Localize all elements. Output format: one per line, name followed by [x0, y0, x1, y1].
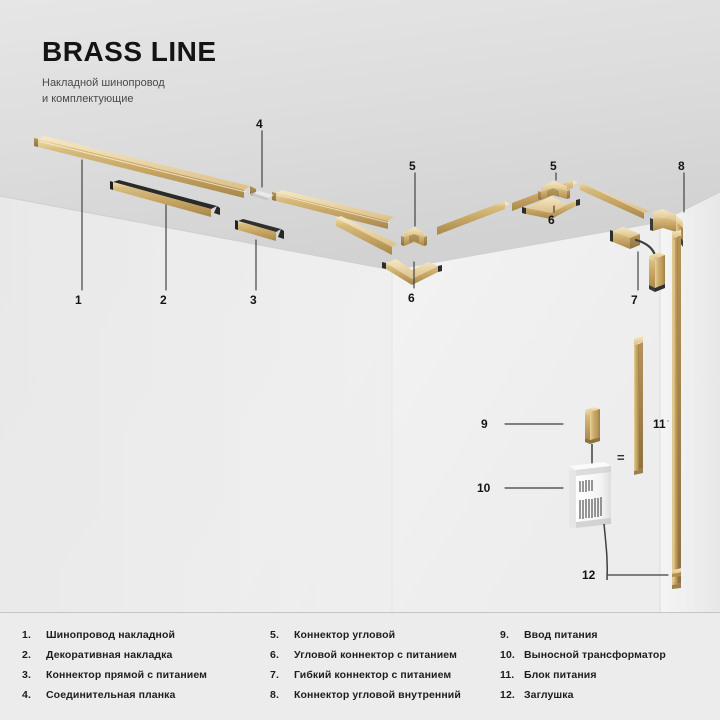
legend-label: Гибкий коннектор с питанием: [294, 669, 486, 681]
legend-label: Блок питания: [524, 669, 720, 681]
legend-label: Коннектор угловой: [294, 629, 486, 641]
right-wall: [660, 192, 720, 612]
legend-number: 2.: [22, 649, 46, 661]
legend-item-12: 12. Заглушка: [500, 689, 720, 701]
legend-number: 6.: [270, 649, 294, 661]
legend-label: Ввод питания: [524, 629, 720, 641]
power-supply-rail: [672, 230, 681, 589]
legend-item-5: 5. Коннектор угловой: [270, 629, 486, 641]
callout-9: 9: [481, 418, 488, 430]
legend-label: Выносной трансформатор: [524, 649, 720, 661]
callout-11: 11: [653, 418, 666, 430]
legend-item-1: 1. Шинопровод накладной: [22, 629, 256, 641]
legend-item-4: 4. Соединительная планка: [22, 689, 256, 701]
legend-label: Декоративная накладка: [46, 649, 256, 661]
callout-1: 1: [75, 294, 82, 306]
legend-label: Шинопровод накладной: [46, 629, 256, 641]
legend-item-8: 8. Коннектор угловой внутренний: [270, 689, 486, 701]
rail-stub-upper-right: [634, 336, 643, 475]
callout-4: 4: [256, 118, 263, 130]
legend-item-11: 11. Блок питания: [500, 669, 720, 681]
callout-8: 8: [678, 160, 685, 172]
legend-number: 10.: [500, 649, 524, 661]
legend-number: 4.: [22, 689, 46, 701]
callout-12: 12: [582, 569, 595, 581]
equals-sign: =: [617, 450, 625, 465]
legend-item-2: 2. Декоративная накладка: [22, 649, 256, 661]
legend-grid: 1. Шинопровод накладной 2. Декоративная …: [0, 613, 720, 701]
subtitle-line-1: Накладной шинопровод: [42, 76, 217, 92]
page-title: BRASS LINE: [42, 38, 217, 66]
header-block: BRASS LINE Накладной шинопровод и компле…: [42, 38, 217, 108]
callout-10: 10: [477, 482, 490, 494]
legend-label: Коннектор прямой с питанием: [46, 669, 256, 681]
legend-column-1: 1. Шинопровод накладной 2. Декоративная …: [0, 629, 256, 701]
legend-panel: 1. Шинопровод накладной 2. Декоративная …: [0, 612, 720, 720]
subtitle-line-2: и комплектующие: [42, 92, 217, 108]
callout-6b: 6: [548, 214, 555, 226]
product-diagram-page: BRASS LINE Накладной шинопровод и компле…: [0, 0, 720, 720]
legend-label: Коннектор угловой внутренний: [294, 689, 486, 701]
legend-label: Заглушка: [524, 689, 720, 701]
legend-number: 3.: [22, 669, 46, 681]
callout-3: 3: [250, 294, 257, 306]
callout-5a: 5: [409, 160, 416, 172]
legend-number: 9.: [500, 629, 524, 641]
legend-number: 8.: [270, 689, 294, 701]
legend-number: 7.: [270, 669, 294, 681]
legend-label: Соединительная планка: [46, 689, 256, 701]
room-render: BRASS LINE Накладной шинопровод и компле…: [0, 0, 720, 612]
callout-7: 7: [631, 294, 638, 306]
callout-6a: 6: [408, 292, 415, 304]
legend-number: 5.: [270, 629, 294, 641]
legend-item-9: 9. Ввод питания: [500, 629, 720, 641]
legend-column-2: 5. Коннектор угловой 6. Угловой коннекто…: [256, 629, 486, 701]
legend-column-3: 9. Ввод питания 10. Выносной трансформат…: [486, 629, 720, 701]
legend-item-7: 7. Гибкий коннектор с питанием: [270, 669, 486, 681]
legend-item-3: 3. Коннектор прямой с питанием: [22, 669, 256, 681]
legend-number: 1.: [22, 629, 46, 641]
legend-label: Угловой коннектор с питанием: [294, 649, 486, 661]
page-subtitle: Накладной шинопровод и комплектующие: [42, 76, 217, 108]
legend-item-6: 6. Угловой коннектор с питанием: [270, 649, 486, 661]
callout-2: 2: [160, 294, 167, 306]
legend-number: 12.: [500, 689, 524, 701]
legend-number: 11.: [500, 669, 524, 681]
legend-item-10: 10. Выносной трансформатор: [500, 649, 720, 661]
callout-5b: 5: [550, 160, 557, 172]
